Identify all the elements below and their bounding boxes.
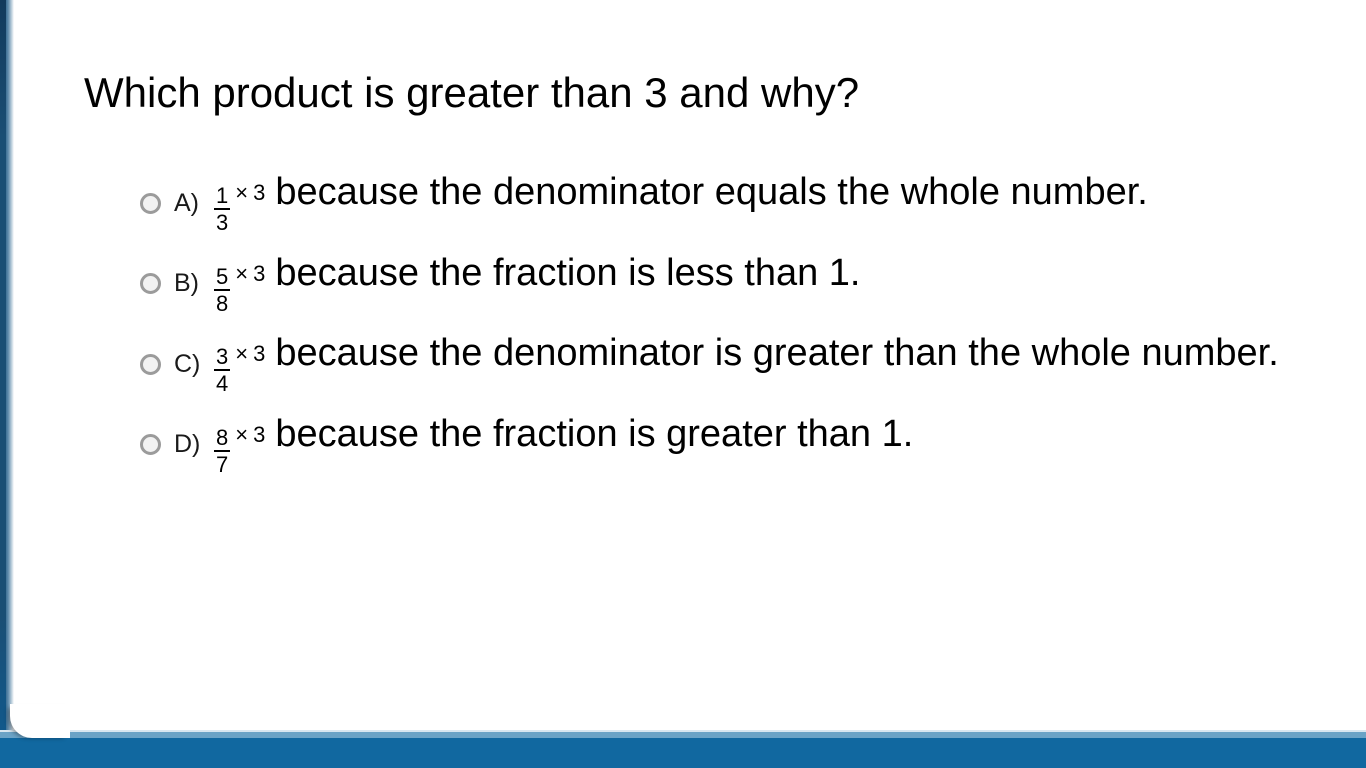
radio-wrap-c[interactable] [140, 354, 170, 375]
answer-option-b-text: because the fraction is less than 1. [275, 252, 860, 294]
answer-option-d-letter: D) [170, 432, 214, 457]
fraction-b-numerator: 5 [214, 265, 230, 291]
answer-option-a[interactable]: A) 13×3because the denominator equals th… [140, 170, 1320, 237]
fraction-d-numerator: 8 [214, 426, 230, 452]
radio-wrap-b[interactable] [140, 273, 170, 294]
answer-option-c[interactable]: C) 34×3because the denominator is greate… [140, 331, 1320, 398]
multiplier-c: 3 [253, 341, 266, 366]
page-title: Which product is greater than 3 and why? [84, 68, 1284, 118]
answer-option-a-letter: A) [170, 191, 214, 216]
slide-content: Which product is greater than 3 and why?… [0, 0, 1366, 768]
multiply-sign-c-icon: × [235, 341, 249, 366]
answer-option-d[interactable]: D) 87×3because the fraction is greater t… [140, 412, 1320, 479]
fraction-c-numerator: 3 [214, 345, 230, 371]
fraction-b: 58 [214, 265, 230, 315]
radio-button-a-icon[interactable] [140, 193, 161, 214]
fraction-a-denominator: 3 [214, 210, 230, 234]
answer-option-b[interactable]: B) 58×3because the fraction is less than… [140, 251, 1320, 318]
fraction-a: 13 [214, 184, 230, 234]
multiplier-a: 3 [253, 180, 266, 205]
answer-option-b-letter: B) [170, 271, 214, 296]
fraction-c-denominator: 4 [214, 371, 230, 395]
multiply-sign-b-icon: × [235, 261, 249, 286]
answer-options-list: A) 13×3because the denominator equals th… [140, 170, 1320, 492]
answer-option-d-body: 87×3because the fraction is greater than… [214, 412, 1320, 479]
multiply-sign-d-icon: × [235, 422, 249, 447]
answer-option-c-body: 34×3because the denominator is greater t… [214, 331, 1320, 398]
answer-option-a-body: 13×3because the denominator equals the w… [214, 170, 1320, 237]
fraction-c: 34 [214, 345, 230, 395]
fraction-d-denominator: 7 [214, 452, 230, 476]
multiplier-b: 3 [253, 261, 266, 286]
radio-button-c-icon[interactable] [140, 354, 161, 375]
multiplier-d: 3 [253, 422, 266, 447]
quiz-slide: Which product is greater than 3 and why?… [0, 0, 1366, 768]
answer-option-d-text: because the fraction is greater than 1. [275, 413, 913, 455]
radio-button-b-icon[interactable] [140, 273, 161, 294]
fraction-b-denominator: 8 [214, 291, 230, 315]
answer-option-d-expression: 87×3 [214, 413, 267, 455]
answer-option-b-body: 58×3because the fraction is less than 1. [214, 251, 1320, 318]
radio-wrap-d[interactable] [140, 434, 170, 455]
answer-option-c-text: because the denominator is greater than … [275, 332, 1278, 374]
fraction-d: 87 [214, 426, 230, 476]
fraction-a-numerator: 1 [214, 184, 230, 210]
radio-wrap-a[interactable] [140, 193, 170, 214]
answer-option-a-expression: 13×3 [214, 171, 267, 213]
radio-button-d-icon[interactable] [140, 434, 161, 455]
answer-option-a-text: because the denominator equals the whole… [275, 171, 1147, 213]
multiply-sign-a-icon: × [235, 180, 249, 205]
answer-option-c-expression: 34×3 [214, 332, 267, 374]
answer-option-b-expression: 58×3 [214, 252, 267, 294]
answer-option-c-letter: C) [170, 352, 214, 377]
